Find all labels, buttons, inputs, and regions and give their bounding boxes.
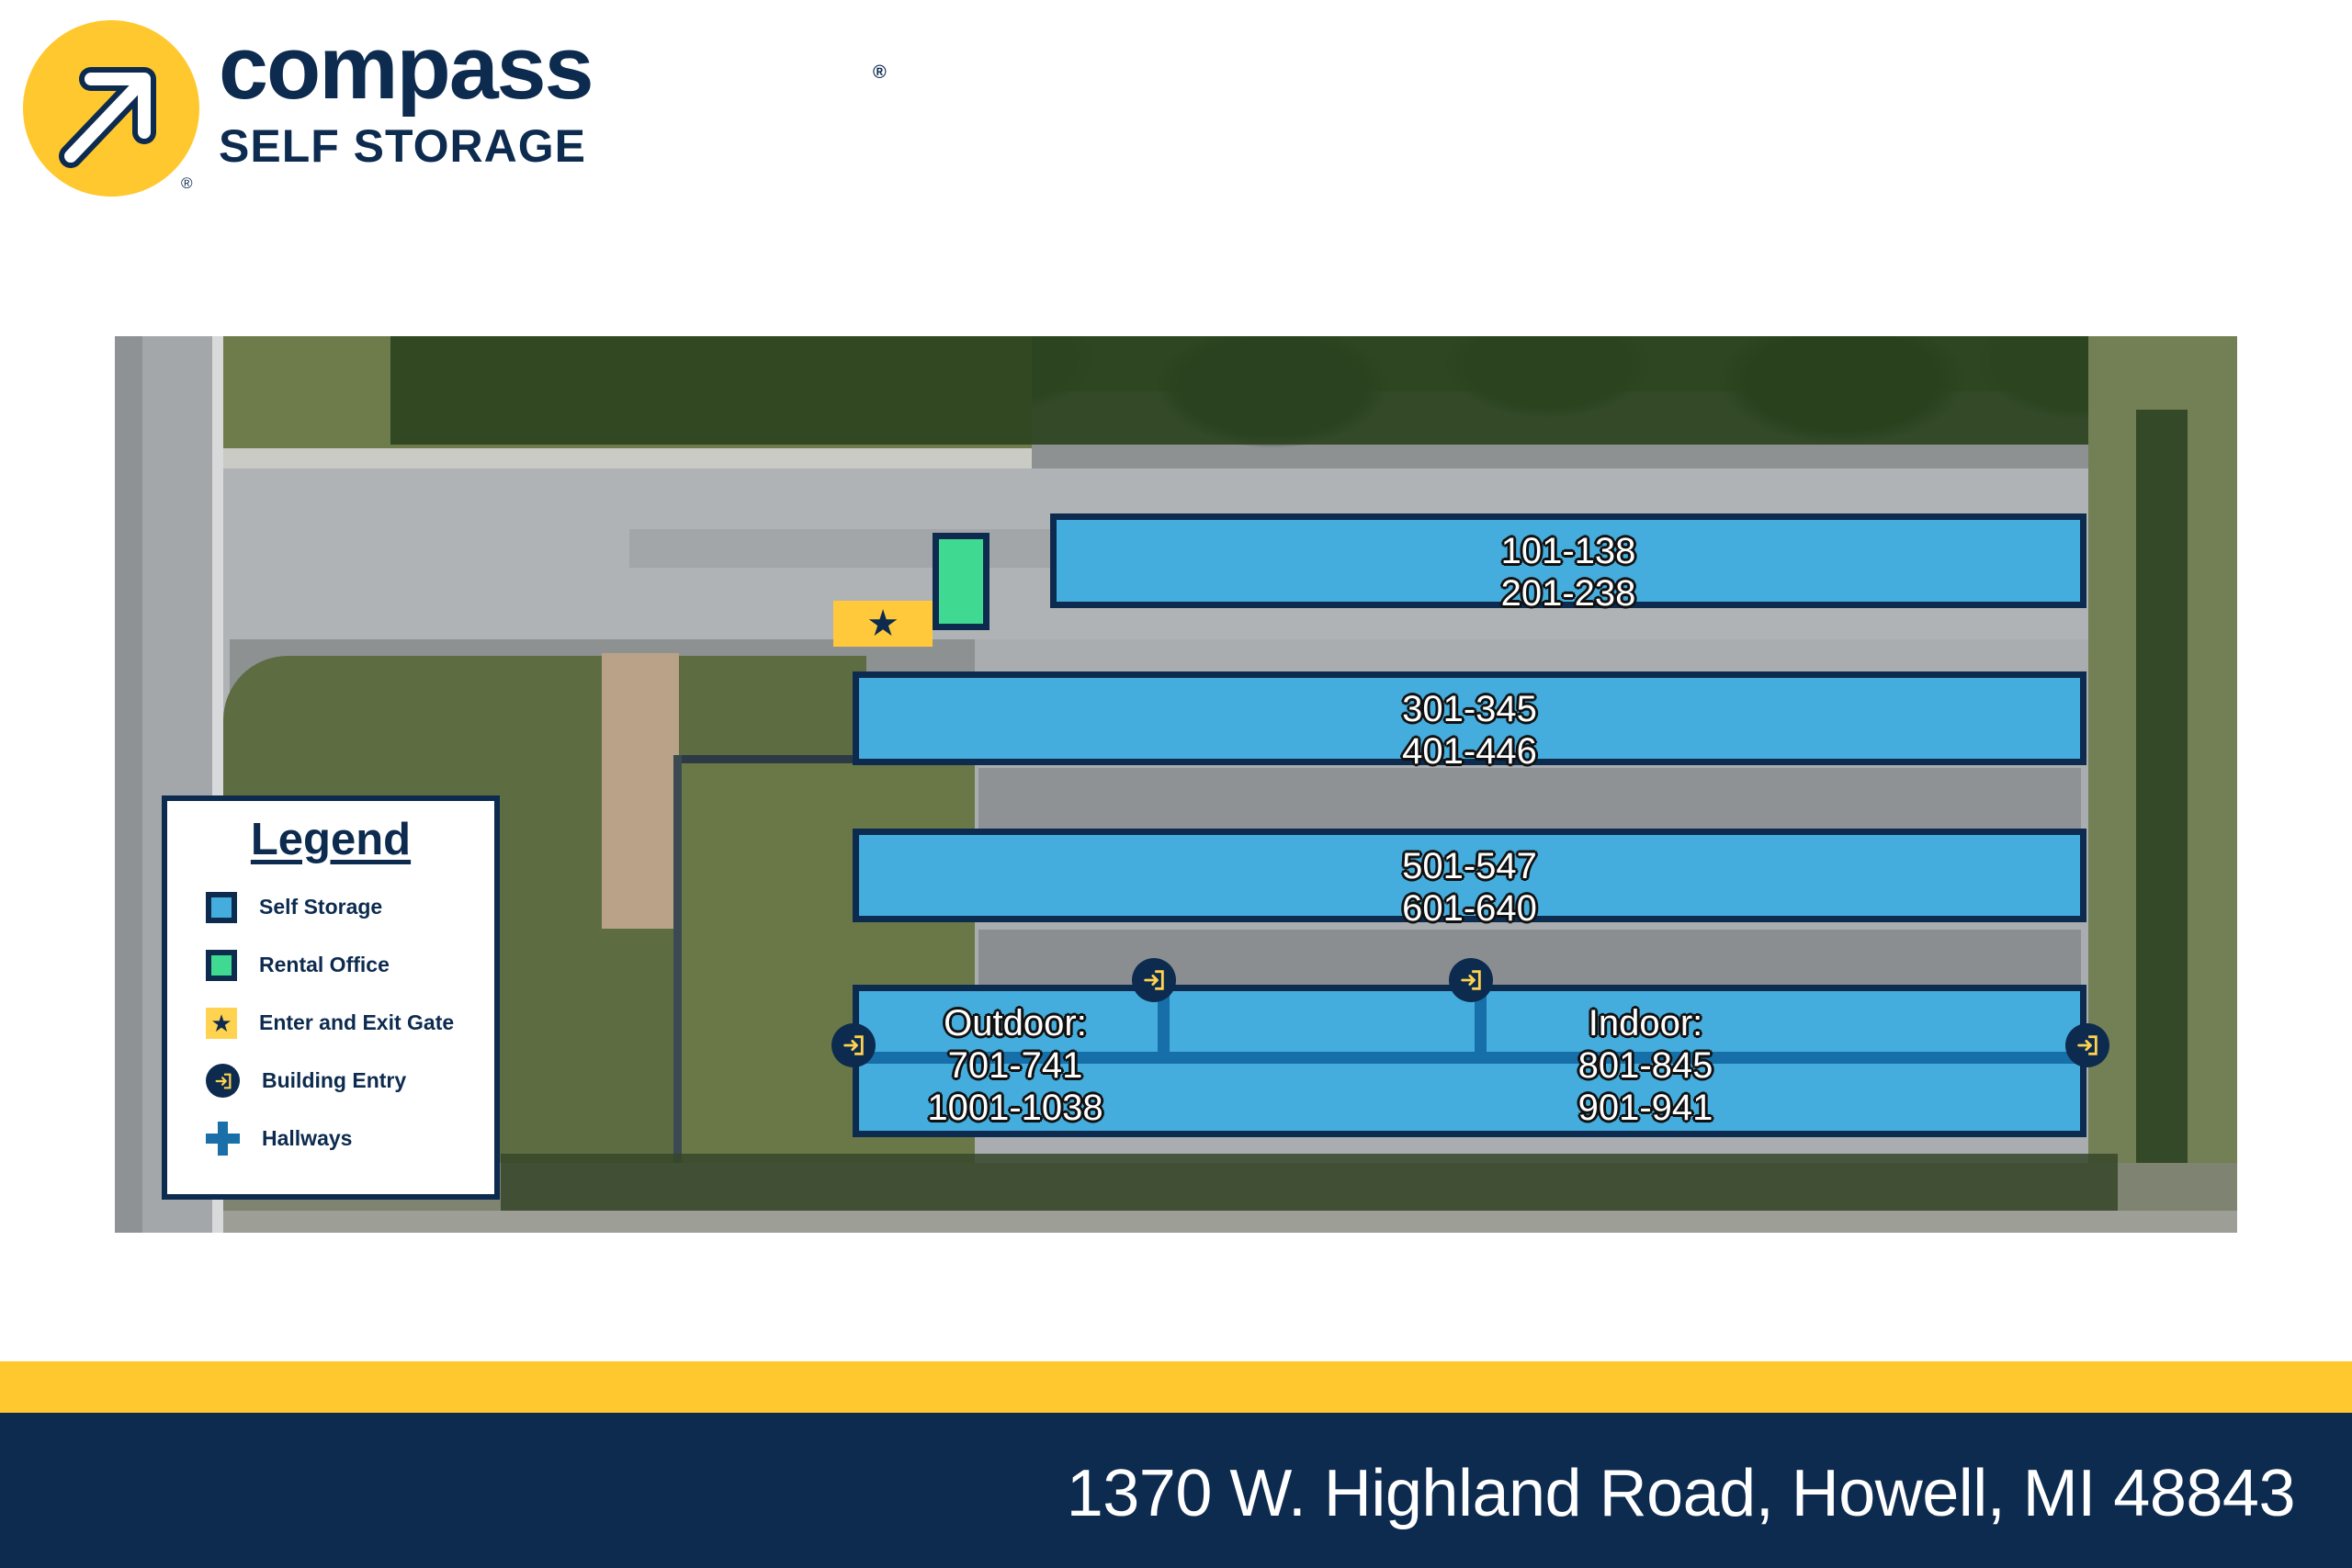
legend-item-hallways: Hallways bbox=[167, 1110, 494, 1168]
plus-icon bbox=[206, 1122, 240, 1156]
legend-item-label: Rental Office bbox=[259, 953, 390, 977]
legend-item-label: Self Storage bbox=[259, 895, 382, 919]
legend-item-label: Hallways bbox=[262, 1126, 352, 1151]
legend-item-gate: ★ Enter and Exit Gate bbox=[167, 994, 494, 1052]
legend-item-label: Building Entry bbox=[262, 1068, 406, 1093]
green-square-icon bbox=[206, 950, 237, 981]
building-4[interactable]: Outdoor: 701-741 1001-1038 Indoor: 801-8… bbox=[853, 985, 2086, 1137]
enter-exit-gate[interactable]: ★ bbox=[833, 601, 933, 647]
map-road-shoulder bbox=[115, 336, 142, 1233]
yellow-star-icon: ★ bbox=[206, 1008, 237, 1039]
building-entry-top-right[interactable] bbox=[1449, 958, 1493, 1002]
legend: Legend Self Storage Rental Office ★ Ente… bbox=[162, 795, 500, 1200]
door-enter-icon bbox=[206, 1064, 240, 1098]
building-3[interactable]: 501-547 601-640 bbox=[853, 829, 2086, 922]
legend-title: Legend bbox=[167, 814, 494, 865]
arrow-up-right-icon bbox=[23, 20, 199, 197]
building-1-label: 101-138 201-238 bbox=[1057, 530, 2080, 615]
brand-logo: ® compass ® SELF STORAGE bbox=[0, 0, 717, 220]
legend-item-building-entry: Building Entry bbox=[167, 1052, 494, 1110]
building-entry-right[interactable] bbox=[2065, 1023, 2109, 1067]
building-4-indoor-label: Indoor: 801-845 901-941 bbox=[1186, 1002, 2105, 1129]
building-1[interactable]: 101-138 201-238 bbox=[1050, 513, 2086, 608]
building-3-label: 501-547 601-640 bbox=[859, 845, 2080, 930]
rental-office[interactable] bbox=[933, 533, 989, 630]
legend-item-rental-office: Rental Office bbox=[167, 936, 494, 994]
brand-name: compass bbox=[219, 26, 696, 110]
building-entry-left[interactable] bbox=[831, 1023, 876, 1067]
brand-registered-mark: ® bbox=[873, 62, 887, 84]
legend-item-label: Enter and Exit Gate bbox=[259, 1010, 454, 1035]
building-2[interactable]: 301-345 401-446 bbox=[853, 671, 2086, 765]
legend-item-self-storage: Self Storage bbox=[167, 878, 494, 936]
site-address: 1370 W. Highland Road, Howell, MI 48843 bbox=[1067, 1456, 2295, 1531]
map-bottom-road bbox=[223, 1211, 2237, 1233]
door-enter-icon bbox=[841, 1032, 866, 1058]
brand-subtitle: SELF STORAGE bbox=[219, 119, 696, 173]
map-walk-top bbox=[223, 448, 1032, 468]
logo-registered-mark: ® bbox=[181, 175, 193, 193]
map-tree-line-right bbox=[2136, 410, 2188, 1233]
gate-star-icon: ★ bbox=[866, 605, 899, 642]
map-tree-line-bottom bbox=[501, 1154, 2118, 1211]
building-entry-top-left[interactable] bbox=[1132, 958, 1176, 1002]
map-asphalt-1 bbox=[978, 768, 2081, 832]
map-dirt-path bbox=[602, 653, 679, 929]
brand-text: compass ® SELF STORAGE bbox=[219, 26, 696, 173]
building-2-label: 301-345 401-446 bbox=[859, 688, 2080, 773]
map-tree-line-top bbox=[390, 336, 2237, 445]
blue-square-icon bbox=[206, 892, 237, 923]
door-enter-icon bbox=[1141, 967, 1167, 993]
footer-accent-bar bbox=[0, 1361, 2352, 1413]
door-enter-icon bbox=[2075, 1032, 2100, 1058]
door-enter-icon bbox=[1458, 967, 1484, 993]
